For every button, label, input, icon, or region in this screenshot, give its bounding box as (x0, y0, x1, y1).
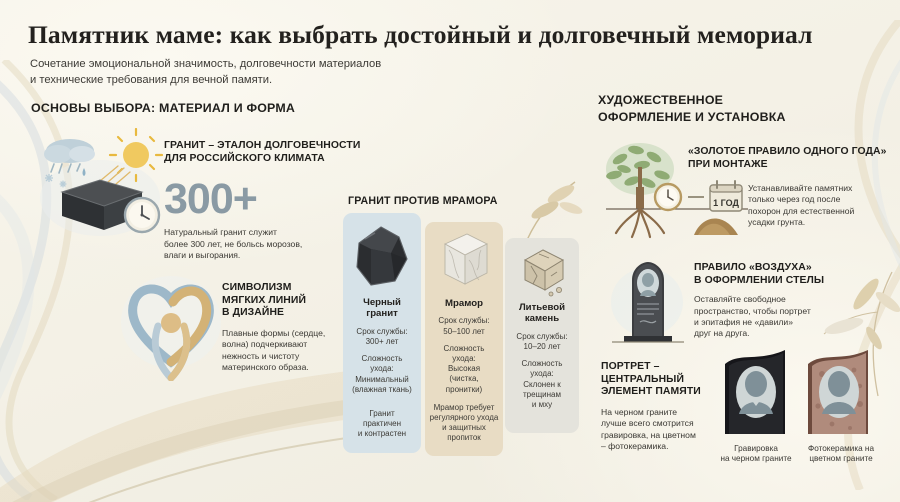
clock-icon-tree (655, 184, 681, 210)
granite-body-line-2: более 300 лет, не больсь морозов, (164, 239, 302, 249)
portrait-title-line-2: ЦЕНТРАЛЬНЫЙ (601, 374, 684, 385)
card-marble-note-3: и защитных (442, 423, 486, 432)
card-cast-care-value-2: трещинам (523, 390, 561, 399)
air-rule-body-line-3: и эпитафия не «давили» (694, 317, 793, 327)
card-granite-note-3: и контрастен (358, 429, 406, 438)
comparison-card-granite[interactable]: Черный гранит Срок службы: 300+ лет Слож… (343, 213, 421, 453)
symbolism-title-line-1: СИМВОЛИЗМ (222, 282, 292, 293)
card-cast-name-line-1: Литьевой (519, 302, 565, 313)
granite-big-number: 300+ (164, 177, 364, 221)
golden-rule-body-line-4: усадки грунта. (748, 217, 805, 227)
portrait-block: ПОРТРЕТ – ЦЕНТРАЛЬНЫЙ ЭЛЕМЕНТ ПАМЯТИ На … (601, 361, 726, 452)
card-marble-note: Мрамор требует регулярного ухода и защит… (428, 403, 500, 444)
air-rule-body-line-1: Оставляйте свободное (694, 294, 786, 304)
golden-rule-body-line-1: Устанавливайте памятних (748, 183, 852, 193)
air-rule-title-line-1: ПРАВИЛО «ВОЗДУХА» (694, 262, 812, 273)
card-cast-life: Срок службы: 10–20 лет (507, 332, 577, 352)
granite-block: ГРАНИТ – ЭТАЛОН ДОЛГОВЕЧНОСТИ ДЛЯ РОССИЙ… (164, 140, 364, 261)
heart-symbolism-illustration (118, 266, 224, 381)
card-granite-life-value: 300+ лет (366, 337, 399, 346)
symbolism-body-line-4: материнского образа. (222, 362, 309, 372)
card-marble-note-4: пропиток (447, 433, 481, 442)
card-granite-name-line-2: гранит (366, 308, 398, 319)
marble-cube-icon (437, 230, 493, 292)
card-granite-care-value-2: (влажная ткань) (352, 385, 412, 394)
clock-icon (125, 198, 159, 232)
air-rule-title: ПРАВИЛО «ВОЗДУХА» В ОФОРМЛЕНИИ СТЕЛЫ (694, 262, 894, 287)
calendar-icon: 1 ГОД (710, 181, 742, 211)
card-granite-care-value-1: Минимальный (355, 375, 408, 384)
card-marble-life-value: 50–100 лет (443, 327, 484, 336)
card-marble-life: Срок службы: 50–100 лет (428, 316, 500, 336)
symbolism-block: СИМВОЛИЗМ МЯГКИХ ЛИНИЙ В ДИЗАЙНЕ Плавные… (222, 282, 352, 373)
air-rule-block: ПРАВИЛО «ВОЗДУХА» В ОФОРМЛЕНИИ СТЕЛЫ Ост… (694, 262, 894, 340)
golden-rule-body: Устанавливайте памятних только через год… (748, 183, 900, 229)
portrait-title-line-3: ЭЛЕМЕНТ ПАМЯТИ (601, 386, 701, 397)
air-rule-body-line-4: друг на друга. (694, 328, 750, 338)
comparison-card-marble[interactable]: Мрамор Срок службы: 50–100 лет Сложность… (425, 222, 503, 456)
granite-title-line-1: ГРАНИТ – ЭТАЛОН ДОЛГОВЕЧНОСТИ (164, 140, 360, 151)
card-granite-note: Гранит практичен и контрастен (347, 409, 417, 440)
card-cast-care-value-3: и мху (532, 400, 552, 409)
portrait-body-line-4: – фотокерамика. (601, 441, 668, 451)
card-cast-care-value-1: Склонен к (523, 380, 561, 389)
card-cast-name-line-2: камень (525, 313, 559, 324)
granite-body-line-1: Натуральный гранит служит (164, 227, 277, 237)
section-heading-right: ХУДОЖЕСТВЕННОЕ ОФОРМЛЕНИЕ И УСТАНОВКА (598, 92, 828, 126)
golden-rule-body-line-3: похорон для естественной (748, 206, 854, 216)
card-granite-care: Сложность ухода: Минимальный (влажная тк… (347, 354, 417, 395)
symbolism-block-body: Плавные формы (сердце, волна) подчеркива… (222, 328, 352, 374)
card-granite-note-2: практичен (363, 419, 401, 428)
golden-rule-title: «ЗОЛОТОЕ ПРАВИЛО ОДНОГО ГОДА» ПРИ МОНТАЖ… (688, 146, 900, 171)
headstone-black-granite-sample (719, 344, 793, 436)
comparison-card-cast-stone[interactable]: Литьевой камень Срок службы: 10–20 лет С… (505, 238, 579, 433)
page-title: Памятник маме: как выбрать достойный и д… (28, 20, 878, 50)
symbolism-body-line-3: нежность и чистоту (222, 351, 299, 361)
card-marble-name-line-1: Мрамор (445, 298, 483, 309)
golden-rule-title-line-1: «ЗОЛОТОЕ ПРАВИЛО ОДНОГО ГОДА» (688, 146, 887, 157)
portrait-body-line-2: лучше всего смотрится (601, 418, 694, 428)
caption-photoceramic: Фотокерамика на цветном граните (789, 444, 893, 465)
caption-photoceramic-line-1: Фотокерамика на (808, 444, 874, 453)
card-marble-care-label-2: ухода: (452, 354, 476, 363)
card-marble-care-label-1: Сложность (444, 344, 485, 353)
stele-illustration (604, 252, 690, 344)
section-heading-right-line-1: ХУДОЖЕСТВЕННОЕ (598, 93, 723, 107)
portrait-title-line-1: ПОРТРЕТ – (601, 361, 659, 372)
card-marble-name: Мрамор (428, 298, 500, 309)
infographic-canvas: Памятник маме: как выбрать достойный и д… (0, 0, 900, 502)
card-cast-care: Сложность ухода: Склонен к трещинам и мх… (507, 359, 577, 410)
card-marble-care-value-2: (чистка, (449, 374, 478, 383)
symbolism-title-line-3: В ДИЗАЙНЕ (222, 307, 284, 318)
air-rule-title-line-2: В ОФОРМЛЕНИИ СТЕЛЫ (694, 275, 824, 286)
headstone-color-granite-sample (802, 344, 876, 436)
card-cast-life-label: Срок службы: (516, 332, 567, 341)
card-granite-care-label-2: ухода: (370, 364, 394, 373)
card-marble-note-2: регулярного ухода (430, 413, 499, 422)
card-granite-name-line-1: Черный (363, 297, 401, 308)
symbolism-body-line-2: волна) подчеркивают (222, 339, 307, 349)
granite-block-title: ГРАНИТ – ЭТАЛОН ДОЛГОВЕЧНОСТИ ДЛЯ РОССИЙ… (164, 140, 364, 165)
symbolism-block-title: СИМВОЛИЗМ МЯГКИХ ЛИНИЙ В ДИЗАЙНЕ (222, 282, 352, 320)
card-granite-life-label: Срок службы: (356, 327, 407, 336)
card-marble-care-value-1: Высокая (448, 364, 480, 373)
caption-engraving-line-2: на черном граните (720, 454, 791, 463)
card-marble-care-value-3: пронитки) (446, 385, 482, 394)
black-granite-rock-icon (351, 223, 413, 291)
caption-engraving-line-1: Гравировка (734, 444, 778, 453)
card-cast-life-value: 10–20 лет (524, 342, 561, 351)
portrait-body-line-1: На черном граните (601, 407, 677, 417)
air-rule-body-line-2: пространство, чтобы портрет (694, 306, 811, 316)
card-marble-care: Сложность ухода: Высокая (чистка, пронит… (428, 344, 500, 395)
section-heading-left: ОСНОВЫ ВЫБОРА: МАТЕРИАЛ И ФОРМА (31, 101, 295, 115)
granite-title-line-2: ДЛЯ РОССИЙСКОГО КЛИМАТА (164, 153, 325, 164)
cast-stone-block-icon (517, 244, 569, 298)
caption-photoceramic-line-2: цветном граните (809, 454, 872, 463)
card-cast-name: Литьевой камень (507, 302, 577, 325)
granite-climate-illustration (38, 128, 168, 238)
page-subtitle: Сочетание эмоциональной значимость, долг… (30, 56, 500, 88)
granite-body-line-3: влаги и выгорания. (164, 250, 240, 260)
subtitle-line-2: и технические требования для вечной памя… (30, 74, 272, 86)
card-granite-care-label-1: Сложность (362, 354, 403, 363)
card-cast-care-label-1: Сложность (522, 359, 563, 368)
subtitle-line-1: Сочетание эмоциональной значимость, долг… (30, 58, 381, 70)
card-granite-name: Черный гранит (347, 297, 417, 320)
comparison-heading: ГРАНИТ ПРОТИВ МРАМОРА (348, 195, 498, 207)
card-granite-note-1: Гранит (369, 409, 394, 418)
portrait-block-title: ПОРТРЕТ – ЦЕНТРАЛЬНЫЙ ЭЛЕМЕНТ ПАМЯТИ (601, 361, 726, 399)
section-heading-right-line-2: ОФОРМЛЕНИЕ И УСТАНОВКА (598, 110, 786, 124)
portrait-body-line-3: гравировка, на цветном (601, 430, 696, 440)
golden-rule-block: «ЗОЛОТОЕ ПРАВИЛО ОДНОГО ГОДА» ПРИ МОНТАЖ… (688, 146, 900, 171)
card-marble-note-1: Мрамор требует (434, 403, 495, 412)
calendar-label: 1 ГОД (713, 198, 739, 208)
granite-block-body: Натуральный гранит служит более 300 лет,… (164, 227, 364, 261)
symbolism-title-line-2: МЯГКИХ ЛИНИЙ (222, 295, 306, 306)
soil-mound-icon (694, 218, 738, 235)
card-marble-life-label: Срок службы: (438, 316, 489, 325)
golden-rule-title-line-2: ПРИ МОНТАЖЕ (688, 159, 768, 170)
card-granite-life: Срок службы: 300+ лет (347, 327, 417, 347)
golden-rule-body-line-2: только через год после (748, 194, 840, 204)
air-rule-body: Оставляйте свободное пространство, чтобы… (694, 294, 894, 340)
card-cast-care-label-2: ухода: (530, 369, 554, 378)
symbolism-body-line-1: Плавные формы (сердце, (222, 328, 325, 338)
